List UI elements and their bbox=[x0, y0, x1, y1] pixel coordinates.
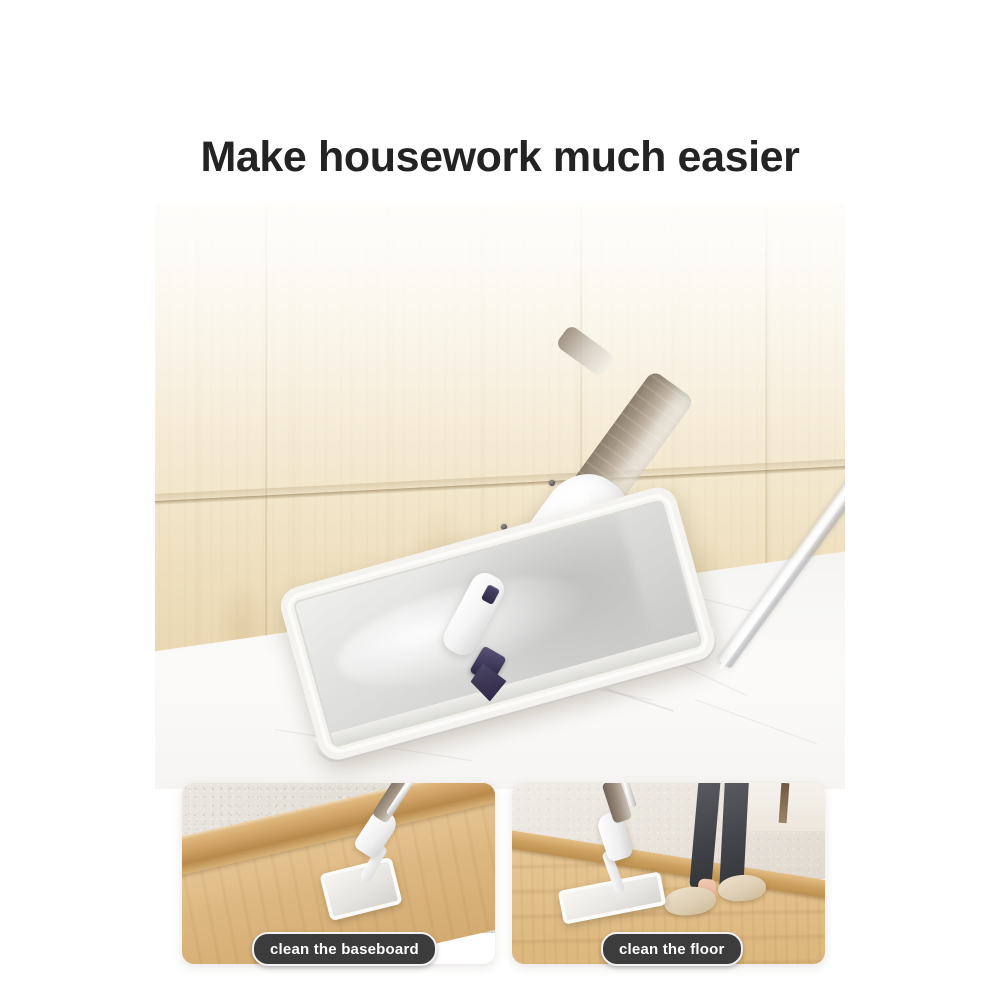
hero-photo bbox=[155, 204, 845, 789]
marble-vein bbox=[695, 699, 818, 744]
page-title: Make housework much easier bbox=[0, 133, 1000, 182]
caption-baseboard: clean the baseboard bbox=[252, 932, 437, 966]
caption-floor: clean the floor bbox=[601, 932, 743, 966]
screw-dot bbox=[549, 480, 555, 486]
product-marketing-image: Make housework much easier bbox=[0, 0, 1000, 1000]
